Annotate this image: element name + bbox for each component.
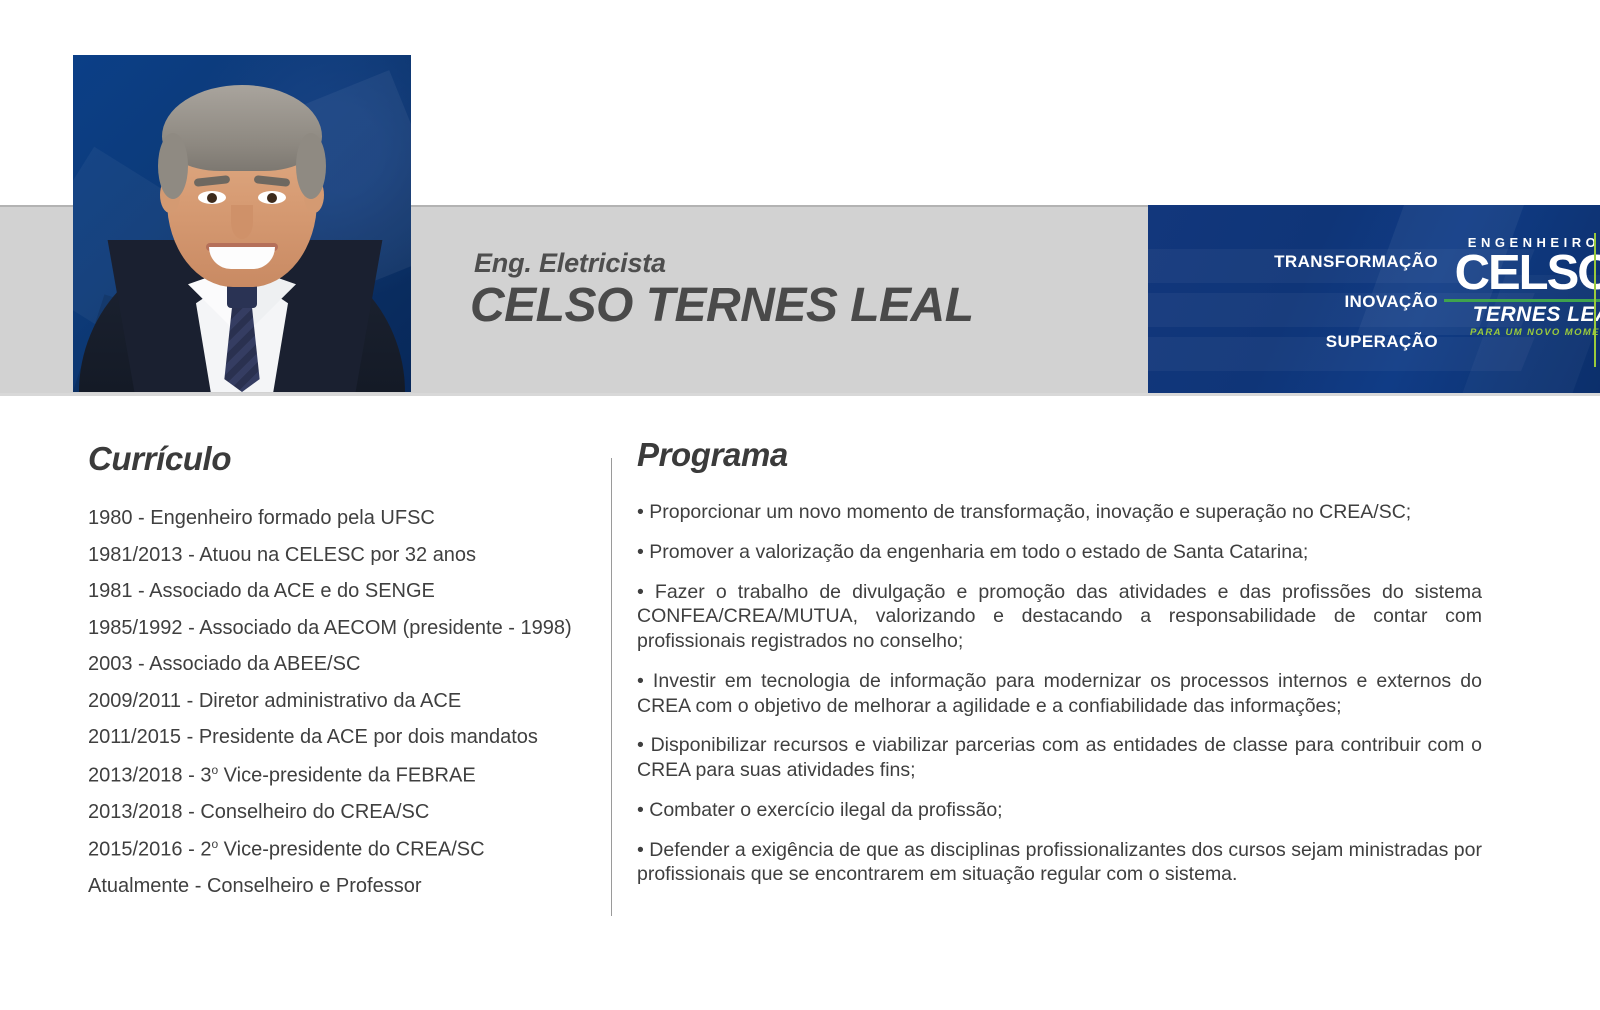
title-block: Eng. Eletricista CELSO TERNES LEAL: [470, 248, 974, 331]
curriculo-column: Currículo 1980 - Engenheiro formado pela…: [88, 440, 588, 913]
curriculo-item: 1985/1992 - Associado da AECOM (presiden…: [88, 618, 588, 638]
hair-side-right: [296, 133, 326, 199]
logo-celso-wordmark: CELSO: [1444, 251, 1600, 296]
campaign-logo-banner: TRANSFORMAÇÃO INOVAÇÃO SUPERAÇÃO ENGENHE…: [1148, 205, 1600, 393]
slogan-transformacao: TRANSFORMAÇÃO: [1148, 253, 1438, 270]
programa-item: • Combater o exercício ilegal da profiss…: [637, 798, 1482, 823]
curriculo-item: 2013/2018 - 3o Vice-presidente da FEBRAE: [88, 764, 588, 786]
logo-tagline: PARA UM NOVO MOMENTO: [1444, 327, 1600, 338]
curriculo-item: 1980 - Engenheiro formado pela UFSC: [88, 508, 588, 528]
portrait-figure: [73, 55, 411, 392]
slogan-inovacao: INOVAÇÃO: [1148, 293, 1438, 310]
hair-side-left: [158, 133, 188, 199]
header-band-underline: [0, 393, 1600, 396]
curriculo-item: 1981 - Associado da ACE e do SENGE: [88, 581, 588, 601]
curriculo-item: 2009/2011 - Diretor administrativo da AC…: [88, 691, 588, 711]
slogan-superacao: SUPERAÇÃO: [1148, 333, 1438, 350]
logo-ternes-leal: TERNES LEAL: [1444, 304, 1600, 325]
curriculo-item: 2015/2016 - 2o Vice-presidente do CREA/S…: [88, 838, 588, 860]
programa-column: Programa • Proporcionar um novo momento …: [637, 436, 1482, 902]
pupil-left: [207, 193, 217, 203]
programa-heading: Programa: [637, 436, 1482, 474]
vote-divider: [1594, 233, 1596, 367]
pupil-right: [267, 193, 277, 203]
programa-item: • Investir em tecnologia de informação p…: [637, 669, 1482, 719]
candidate-photo: [73, 55, 411, 392]
programa-item: • Defender a exigência de que as discipl…: [637, 838, 1482, 888]
curriculo-item: Atualmente - Conselheiro e Professor: [88, 876, 588, 896]
profession-subtitle: Eng. Eletricista: [474, 248, 974, 279]
programa-item: • Promover a valorização da engenharia e…: [637, 540, 1482, 565]
slogan-list: TRANSFORMAÇÃO INOVAÇÃO SUPERAÇÃO: [1148, 253, 1438, 373]
programa-item: • Proporcionar um novo momento de transf…: [637, 500, 1482, 525]
logo-lockup: ENGENHEIRO CELSO TERNES LEAL PARA UM NOV…: [1444, 235, 1600, 338]
curriculo-item: 2013/2018 - Conselheiro do CREA/SC: [88, 802, 588, 822]
curriculo-heading: Currículo: [88, 440, 588, 478]
column-divider: [611, 458, 612, 916]
curriculo-item: 2003 - Associado da ABEE/SC: [88, 654, 588, 674]
curriculo-item: 1981/2013 - Atuou na CELESC por 32 anos: [88, 545, 588, 565]
programa-item: • Disponibilizar recursos e viabilizar p…: [637, 733, 1482, 783]
programa-item: • Fazer o trabalho de divulgação e promo…: [637, 580, 1482, 654]
candidate-name: CELSO TERNES LEAL: [470, 281, 974, 331]
curriculo-item: 2011/2015 - Presidente da ACE por dois m…: [88, 727, 588, 747]
nose: [231, 205, 253, 239]
